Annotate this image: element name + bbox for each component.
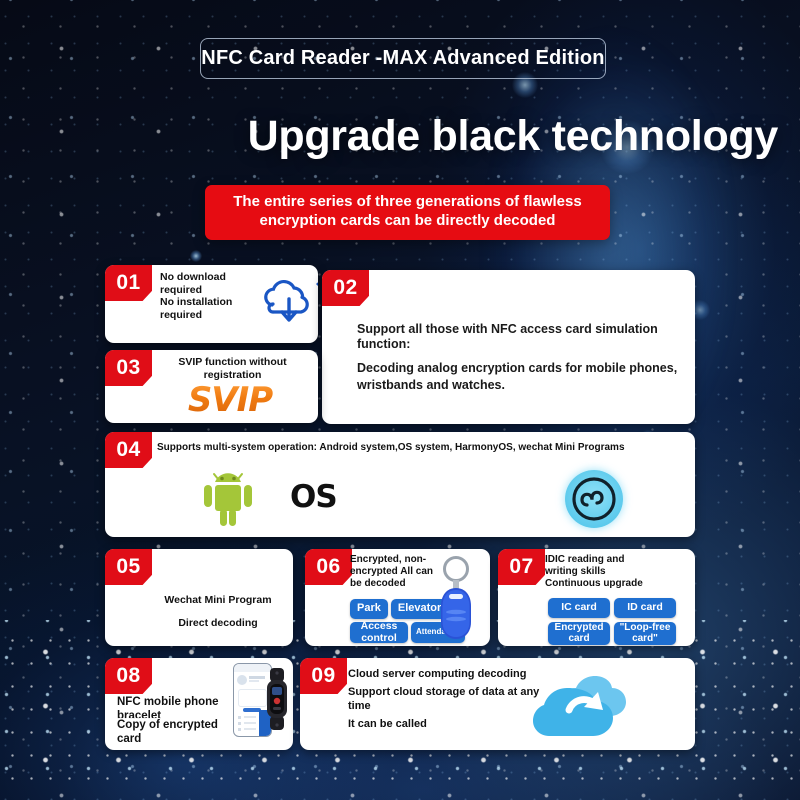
poster-root: NFC Card Reader -MAX Advanced Edition Up… bbox=[0, 0, 800, 800]
product-title: NFC Card Reader -MAX Advanced Edition bbox=[201, 47, 604, 70]
os-text-icon: OS bbox=[290, 479, 337, 515]
feature-card-03: 03 SVIP function without registration SV… bbox=[105, 350, 318, 423]
tag-encrypted-card: Encrypted card bbox=[548, 622, 610, 645]
card-06-text: Encrypted, non-encrypted All can be deco… bbox=[350, 554, 445, 589]
tag-ic-card: IC card bbox=[548, 598, 610, 618]
card-number-badge: 05 bbox=[105, 549, 152, 585]
card-02-line1: Support all those with NFC access card s… bbox=[357, 322, 687, 352]
svip-logo: SVIP bbox=[160, 380, 300, 420]
headline: Upgrade black technology bbox=[0, 112, 778, 161]
card-number-badge: 04 bbox=[105, 432, 152, 468]
card-number-badge: 09 bbox=[300, 658, 347, 694]
feature-card-06: 06 Encrypted, non-encrypted All can be d… bbox=[305, 549, 490, 646]
card-number-badge: 03 bbox=[105, 350, 152, 386]
cloud-sync-icon bbox=[525, 666, 635, 742]
tag-park: Park bbox=[350, 599, 388, 619]
product-title-box: NFC Card Reader -MAX Advanced Edition bbox=[200, 38, 606, 79]
cloud-download-icon bbox=[260, 279, 316, 325]
card-07-text: IDIC reading and writing skills Continuo… bbox=[545, 554, 655, 590]
card-number-badge: 08 bbox=[105, 658, 152, 694]
tag-access-control: Access control bbox=[350, 622, 408, 643]
card-07-tag-row-2: Encrypted card "Loop-free card" bbox=[548, 622, 676, 645]
card-number-badge: 07 bbox=[498, 549, 545, 585]
feature-card-04: 04 Supports multi-system operation: Andr… bbox=[105, 432, 695, 537]
card-04-text: Supports multi-system operation: Android… bbox=[157, 442, 687, 454]
card-07-tag-row-1: IC card ID card bbox=[548, 598, 676, 618]
smart-band-icon bbox=[265, 668, 289, 730]
feature-card-07: 07 IDIC reading and writing skills Conti… bbox=[498, 549, 695, 646]
feature-card-09: 09 Cloud server computing decoding Suppo… bbox=[300, 658, 695, 750]
card-05-line2: Direct decoding bbox=[153, 617, 283, 630]
tag-loop-free-card: "Loop-free card" bbox=[614, 622, 676, 645]
card-01-text: No download required No installation req… bbox=[160, 271, 255, 321]
feature-card-01: 01 No download required No installation … bbox=[105, 265, 318, 343]
light-orb bbox=[190, 250, 202, 262]
hammer-wrench-icon bbox=[310, 275, 318, 323]
card-05-line1: Wechat Mini Program bbox=[153, 594, 283, 607]
wechat-mini-program-icon bbox=[565, 470, 623, 528]
card-09-line2: Support cloud storage of data at any tim… bbox=[348, 686, 548, 714]
card-number-badge: 06 bbox=[305, 549, 352, 585]
card-03-text: SVIP function without registration bbox=[155, 356, 310, 381]
card-number-badge: 01 bbox=[105, 265, 152, 301]
feature-card-02: 02 Support all those with NFC access car… bbox=[322, 270, 695, 424]
red-banner: The entire series of three generations o… bbox=[205, 185, 610, 240]
card-02-line2: Decoding analog encryption cards for mob… bbox=[357, 360, 687, 394]
card-08-line2: Copy of encrypted card bbox=[117, 718, 237, 747]
android-icon bbox=[200, 472, 256, 528]
feature-card-05: 05 Wechat Mini Program Direct decoding bbox=[105, 549, 293, 646]
feature-card-08: 08 NFC mobile phone bracelet Copy of enc… bbox=[105, 658, 293, 750]
tag-id-card: ID card bbox=[614, 598, 676, 618]
card-number-badge: 02 bbox=[322, 270, 369, 306]
keyfob-icon bbox=[433, 555, 479, 640]
